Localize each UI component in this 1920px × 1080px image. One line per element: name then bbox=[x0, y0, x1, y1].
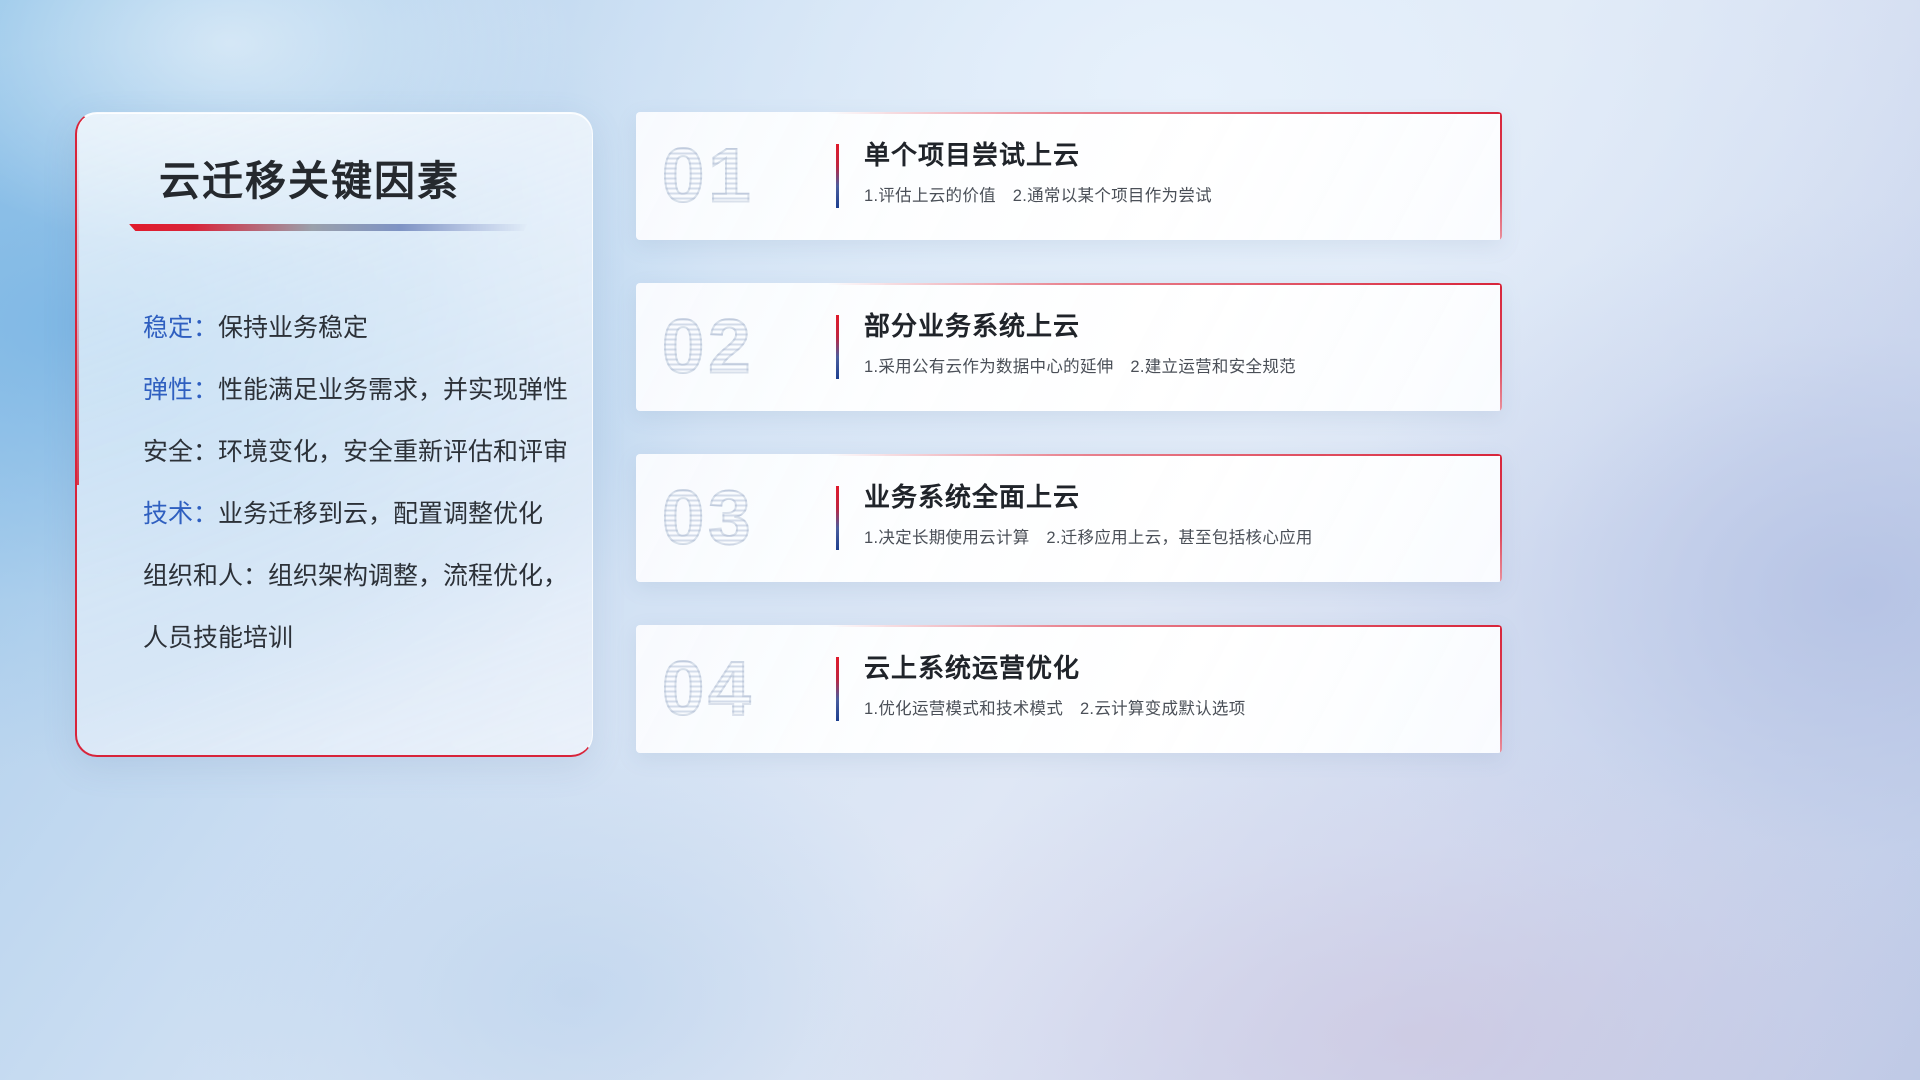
key-factor-text: 业务迁移到云，配置调整优化 bbox=[218, 500, 543, 528]
step-title: 部分业务系统上云 bbox=[864, 310, 1472, 343]
page-title: 云迁移关键因素 bbox=[159, 161, 592, 202]
key-factor-text: 保持业务稳定 bbox=[218, 314, 368, 342]
step-number: 04 bbox=[662, 646, 755, 733]
step-title: 云上系统运营优化 bbox=[864, 652, 1472, 685]
slide-content: 云迁移关键因素 稳定：保持业务稳定弹性：性能满足业务需求，并实现弹性安全：环境变… bbox=[0, 0, 1920, 1080]
step-divider-bar bbox=[836, 657, 839, 721]
key-factor-label: 技术： bbox=[143, 500, 218, 528]
key-factors-list: 稳定：保持业务稳定弹性：性能满足业务需求，并实现弹性安全：环境变化，安全重新评估… bbox=[143, 297, 563, 669]
step-title: 单个项目尝试上云 bbox=[864, 139, 1472, 172]
key-factors-panel: 云迁移关键因素 稳定：保持业务稳定弹性：性能满足业务需求，并实现弹性安全：环境变… bbox=[75, 112, 593, 757]
key-factor-text: 性能满足业务需求，并实现弹性 bbox=[218, 376, 568, 404]
step-body: 云上系统运营优化1.优化运营模式和技术模式 2.云计算变成默认选项 bbox=[864, 652, 1472, 721]
step-description: 1.优化运营模式和技术模式 2.云计算变成默认选项 bbox=[864, 698, 1472, 721]
key-factor-item: 稳定：保持业务稳定 bbox=[143, 297, 563, 359]
migration-steps-list: 01单个项目尝试上云1.评估上云的价值 2.通常以某个项目作为尝试02部分业务系… bbox=[636, 112, 1502, 796]
step-divider-bar bbox=[836, 144, 839, 208]
key-factor-item: 安全：环境变化，安全重新评估和评审 bbox=[143, 421, 563, 483]
step-description: 1.采用公有云作为数据中心的延伸 2.建立运营和安全规范 bbox=[864, 356, 1472, 379]
step-card-03[interactable]: 03业务系统全面上云1.决定长期使用云计算 2.迁移应用上云，甚至包括核心应用 bbox=[636, 454, 1502, 582]
step-number: 01 bbox=[662, 133, 755, 220]
step-number: 03 bbox=[662, 475, 755, 562]
step-divider-bar bbox=[836, 486, 839, 550]
step-card-01[interactable]: 01单个项目尝试上云1.评估上云的价值 2.通常以某个项目作为尝试 bbox=[636, 112, 1502, 240]
key-factor-label: 稳定： bbox=[143, 314, 218, 342]
key-factor-label: 组织和人： bbox=[143, 562, 268, 590]
key-factor-text: 环境变化，安全重新评估和评审 bbox=[218, 438, 568, 466]
step-divider-bar bbox=[836, 315, 839, 379]
key-factor-item: 组织和人：组织架构调整，流程优化， bbox=[143, 545, 563, 607]
key-factor-item: 技术：业务迁移到云，配置调整优化 bbox=[143, 483, 563, 545]
step-description: 1.评估上云的价值 2.通常以某个项目作为尝试 bbox=[864, 185, 1472, 208]
step-title: 业务系统全面上云 bbox=[864, 481, 1472, 514]
step-card-04[interactable]: 04云上系统运营优化1.优化运营模式和技术模式 2.云计算变成默认选项 bbox=[636, 625, 1502, 753]
title-underline-rule bbox=[129, 224, 527, 231]
step-number: 02 bbox=[662, 304, 755, 391]
step-body: 业务系统全面上云1.决定长期使用云计算 2.迁移应用上云，甚至包括核心应用 bbox=[864, 481, 1472, 550]
step-body: 单个项目尝试上云1.评估上云的价值 2.通常以某个项目作为尝试 bbox=[864, 139, 1472, 208]
step-description: 1.决定长期使用云计算 2.迁移应用上云，甚至包括核心应用 bbox=[864, 527, 1472, 550]
key-factor-item: 弹性：性能满足业务需求，并实现弹性 bbox=[143, 359, 563, 421]
key-factor-label: 安全： bbox=[143, 438, 218, 466]
key-factor-text: 人员技能培训 bbox=[143, 624, 293, 652]
step-card-02[interactable]: 02部分业务系统上云1.采用公有云作为数据中心的延伸 2.建立运营和安全规范 bbox=[636, 283, 1502, 411]
step-body: 部分业务系统上云1.采用公有云作为数据中心的延伸 2.建立运营和安全规范 bbox=[864, 310, 1472, 379]
key-factor-text: 组织架构调整，流程优化， bbox=[268, 562, 568, 590]
key-factor-label: 弹性： bbox=[143, 376, 218, 404]
key-factor-item: 人员技能培训 bbox=[143, 607, 563, 669]
